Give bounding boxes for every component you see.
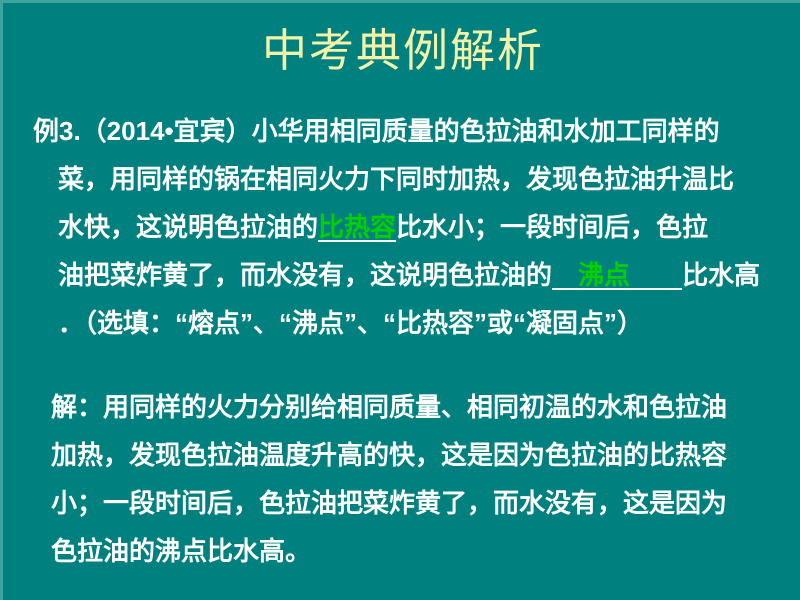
answer-line-4: 色拉油的沸点比水高。 — [3, 527, 800, 575]
answer-line-2: 加热，发现色拉油温度升高的快，这是因为色拉油的比热容 — [3, 431, 800, 479]
page-title: 中考典例解析 — [3, 23, 800, 79]
answer-line-3: 小；一段时间后，色拉油把菜炸黄了，而水没有，这是因为 — [3, 479, 800, 527]
question-line-2: 菜，用同样的锅在相同火力下同时加热，发现色拉油升温比 — [3, 155, 800, 203]
question-line-1: 例3.（2014•宜宾）小华用相同质量的色拉油和水加工同样的 — [3, 107, 800, 155]
question-line-3-prefix: 水快，这说明色拉油的 — [58, 212, 318, 242]
fill-blank-boiling-point-trail — [630, 260, 682, 290]
question-block: 例3.（2014•宜宾）小华用相同质量的色拉油和水加工同样的 菜，用同样的锅在相… — [3, 107, 800, 347]
question-line-4-prefix: 油把菜炸黄了，而水没有，这说明色拉油的 — [58, 260, 552, 290]
fill-blank-boiling-point[interactable]: 沸点 — [578, 260, 630, 290]
presentation-slide: 中考典例解析 例3.（2014•宜宾）小华用相同质量的色拉油和水加工同样的 菜，… — [0, 0, 800, 600]
fill-blank-specific-heat[interactable]: 比热容 — [318, 212, 396, 242]
fill-blank-boiling-point-lead — [552, 260, 578, 290]
question-line-4: 油把菜炸黄了，而水没有，这说明色拉油的 沸点 比水高 — [3, 251, 800, 299]
question-line-4-suffix: 比水高 — [682, 260, 760, 290]
question-line-3-suffix: 比水小；一段时间后，色拉 — [396, 212, 708, 242]
answer-block: 解：用同样的火力分别给相同质量、相同初温的水和色拉油 加热，发现色拉油温度升高的… — [3, 383, 800, 575]
question-line-5: ．（选填：“熔点”、“沸点”、“比热容”或“凝固点”） — [3, 299, 800, 347]
question-line-3: 水快，这说明色拉油的比热容比水小；一段时间后，色拉 — [3, 203, 800, 251]
answer-line-1: 解：用同样的火力分别给相同质量、相同初温的水和色拉油 — [3, 383, 800, 431]
